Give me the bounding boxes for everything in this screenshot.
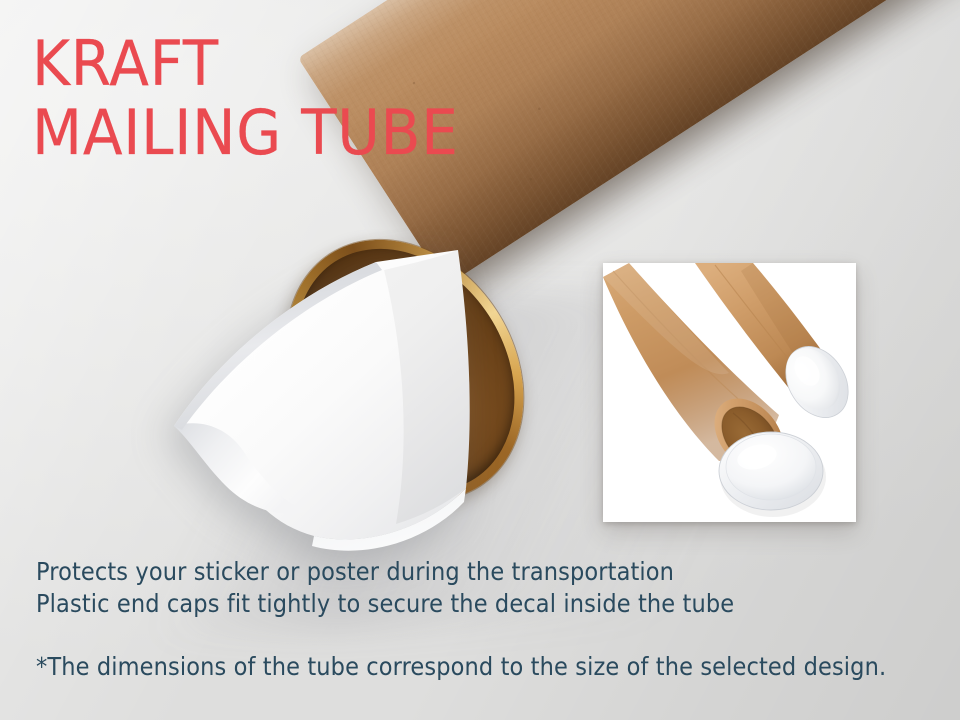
feature-line-1: Protects your sticker or poster during t… — [36, 556, 734, 588]
product-banner: KRAFT MAILING TUBE Protects your sticker… — [0, 0, 960, 720]
rolled-poster-sheet — [128, 236, 528, 548]
feature-copy: Protects your sticker or poster during t… — [36, 556, 734, 620]
headline-line-2: MAILING TUBE — [32, 103, 459, 164]
footnote: *The dimensions of the tube correspond t… — [36, 652, 886, 681]
headline-line-1: KRAFT — [32, 34, 459, 95]
inset-product-photo[interactable] — [603, 263, 856, 522]
inset-loose-end-cap — [719, 432, 826, 517]
page-title: KRAFT MAILING TUBE — [32, 34, 459, 164]
feature-line-2: Plastic end caps fit tightly to secure t… — [36, 588, 734, 620]
